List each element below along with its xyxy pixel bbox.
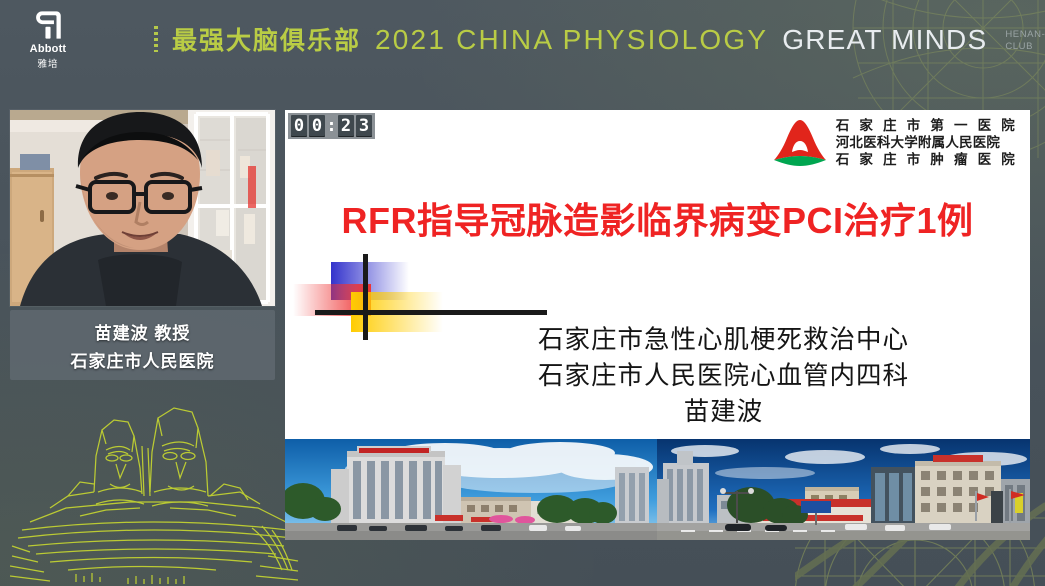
hospital-name-lines: 石 家 庄 市 第 一 医 院 河北医科大学附属人民医院 石 家 庄 市 肿 瘤… [836, 118, 1018, 168]
hospital-name-line-2: 河北医科大学附属人民医院 [836, 135, 1018, 151]
shared-slide[interactable]: 0 0 : 2 3 石 家 庄 市 第 一 医 院 河北医科大学附属人民医院 石… [285, 110, 1030, 540]
conference-stream-stage: Abbott 雅培 最强大脑俱乐部 2021 CHINA PHYSIOLOGY … [0, 0, 1045, 586]
slide-body-line-3: 苗建波 [435, 394, 1012, 430]
stone-head-sculpture-line-art-icon [10, 396, 300, 586]
banner-subtitle-line2: CLUB [1005, 41, 1045, 53]
timer-separator: : [327, 115, 336, 137]
hospital-logo: 石 家 庄 市 第 一 医 院 河北医科大学附属人民医院 石 家 庄 市 肿 瘤… [772, 118, 1018, 168]
hospital-name-line-1: 石 家 庄 市 第 一 医 院 [836, 118, 1018, 134]
slide-body-text: 石家庄市急性心肌梗死救治中心 石家庄市人民医院心血管内四科 苗建波 [435, 322, 1012, 431]
dotted-divider-icon [154, 26, 158, 52]
participant-avatar-image [10, 110, 275, 306]
timer-digit: 0 [309, 115, 325, 137]
banner-title-group: 最强大脑俱乐部 2021 CHINA PHYSIOLOGY GREAT MIND… [154, 21, 1045, 57]
hospital-campus-photo [285, 439, 1030, 540]
banner-title-en-brand: GREAT MINDS [782, 24, 987, 56]
slide-body-line-2: 石家庄市人民医院心血管内四科 [435, 358, 1012, 394]
timer-digit: 3 [356, 115, 372, 137]
event-banner: Abbott 雅培 最强大脑俱乐部 2021 CHINA PHYSIOLOGY … [0, 0, 1045, 78]
hospital-name-line-3: 石 家 庄 市 肿 瘤 医 院 [836, 152, 1018, 168]
banner-subtitle: HENAN-HEBEI CLUB [1005, 29, 1045, 57]
banner-subtitle-line1: HENAN-HEBEI [1005, 29, 1045, 41]
banner-title-en-year: 2021 CHINA PHYSIOLOGY [375, 24, 768, 56]
abbott-logo: Abbott 雅培 [0, 0, 96, 78]
abbott-a-logo-icon [31, 8, 65, 42]
participant-name: 苗建波 教授 [95, 319, 191, 344]
presentation-timer: 0 0 : 2 3 [288, 113, 375, 139]
slide-title: RFR指导冠脉造影临界病变PCI治疗1例 [285, 192, 1030, 244]
participant-video-tile[interactable] [10, 110, 275, 306]
participant-affiliation: 石家庄市人民医院 [71, 347, 215, 372]
abbott-wordmark-cn: 雅培 [37, 56, 58, 70]
timer-digit: 0 [291, 115, 307, 137]
participant-name-plate: 苗建波 教授 石家庄市人民医院 [10, 310, 275, 380]
hospital-campus-photo-strip [285, 439, 1030, 540]
slide-body-line-1: 石家庄市急性心肌梗死救治中心 [435, 322, 1012, 358]
timer-digit: 2 [338, 115, 354, 137]
abbott-wordmark: Abbott [30, 43, 67, 55]
banner-title-cn: 最强大脑俱乐部 [172, 21, 361, 57]
hospital-red-green-figure-logo-icon [772, 118, 828, 168]
